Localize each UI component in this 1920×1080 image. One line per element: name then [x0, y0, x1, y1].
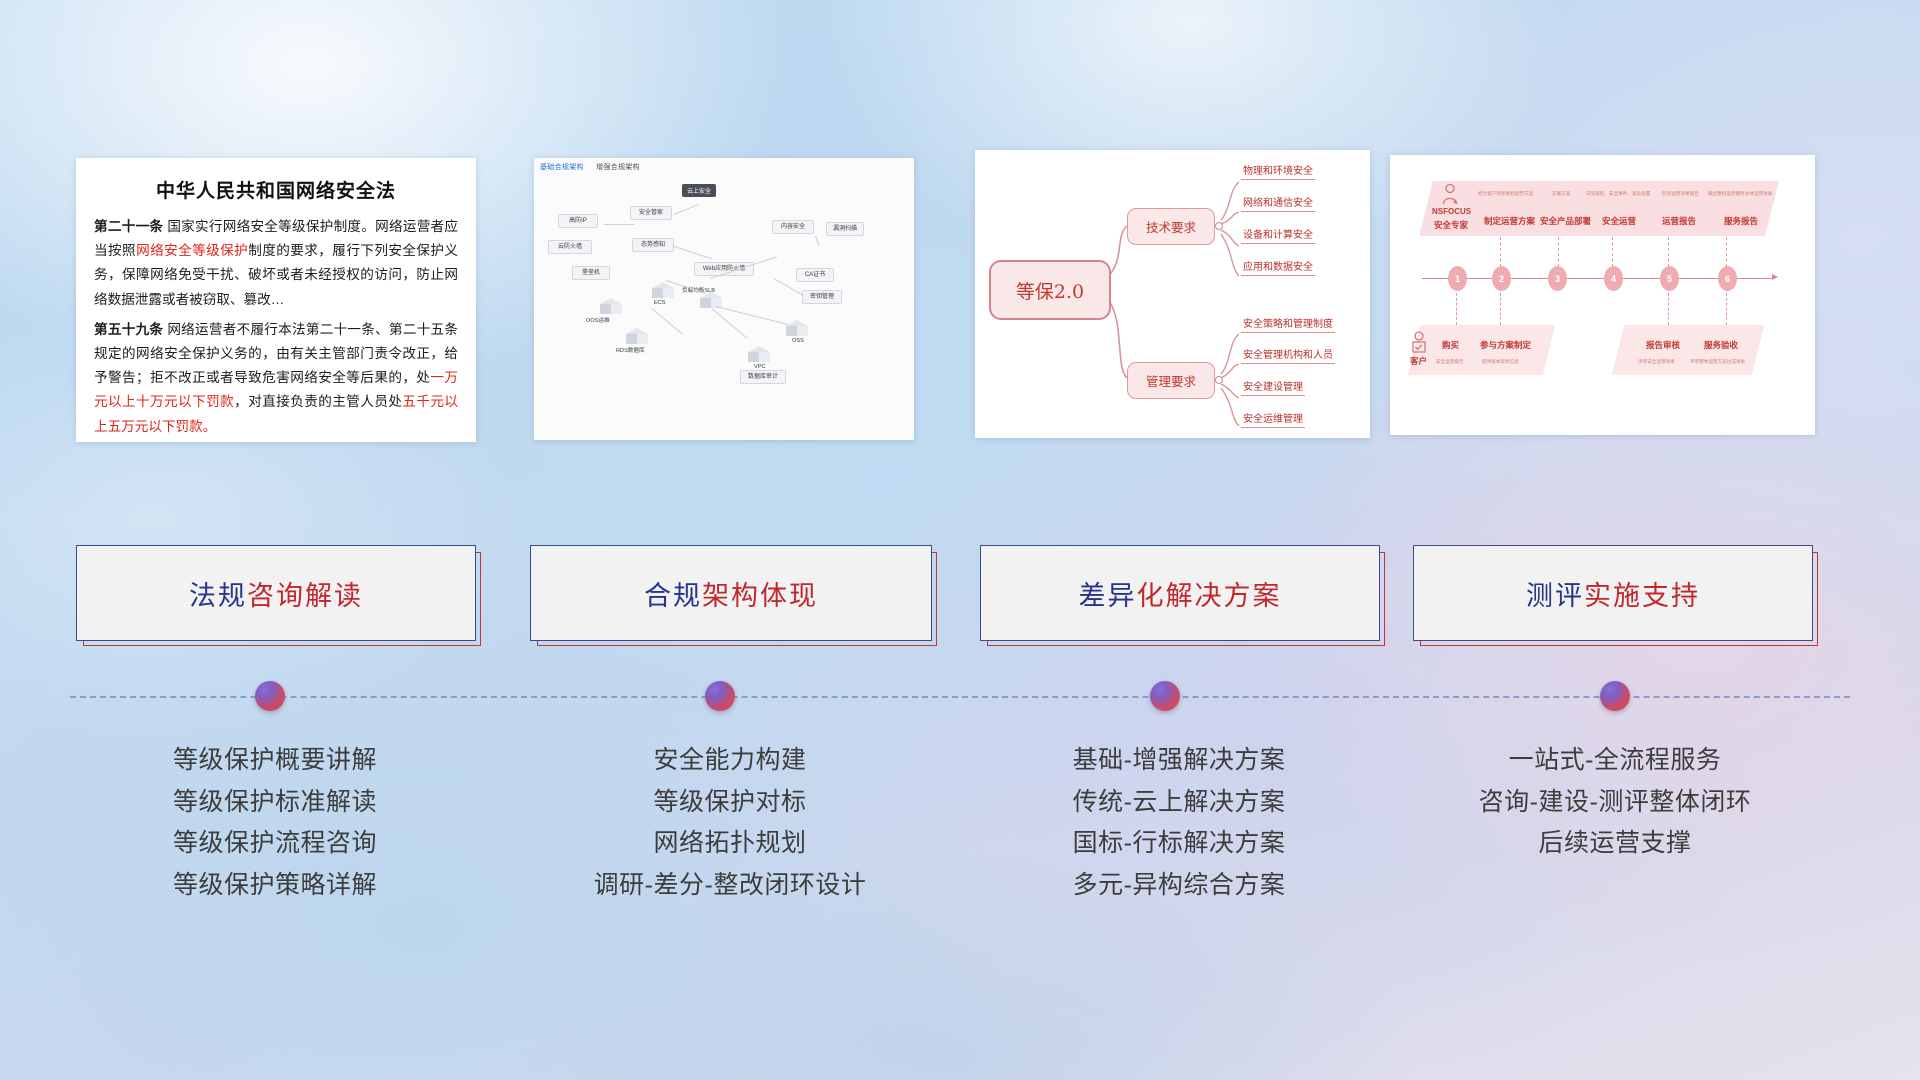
arch-node-9: 密钥管理: [802, 290, 842, 304]
banner-3-text: 差异化解决方案: [1079, 574, 1282, 613]
bottom-sub-2: 评审安全运营效果: [1638, 359, 1675, 365]
banner-1-red: 咨询解读: [247, 581, 363, 611]
expert-avatar-icon: [1440, 183, 1460, 205]
mindmap-leaf-mgmt-1: 安全管理机构和人员: [1241, 346, 1335, 364]
cube-icon-vpc: [748, 346, 770, 362]
timeline-step-5[interactable]: 5: [1660, 266, 1679, 291]
arch-node-5: 内容安全: [772, 220, 814, 234]
banner-compliance-architecture[interactable]: 合规架构体现: [530, 545, 932, 641]
arch-tabs: 基础合规架构 增强合规架构: [540, 162, 650, 172]
list-item: 等级保护策略详解: [75, 865, 475, 907]
banner-regulation-consulting[interactable]: 法规咨询解读: [76, 545, 476, 641]
timeline-step-6[interactable]: 6: [1718, 266, 1737, 291]
law-article-59: 第五十九条 网络运营者不履行本法第二十一条、第二十五条规定的网络安全保护义务的，…: [94, 318, 458, 439]
timeline-step-1[interactable]: 1: [1448, 266, 1467, 291]
list-item: 咨询-建设-测评整体闭环: [1415, 782, 1815, 824]
top-label-3: 运营报告: [1662, 215, 1696, 227]
mindmap-leaf-tech-2: 设备和计算安全: [1241, 226, 1315, 244]
list-item: 调研-差分-整改闭环设计: [528, 865, 932, 907]
bottom-label-1: 参与方案制定: [1480, 339, 1531, 351]
list-item: 网络拓扑规划: [528, 823, 932, 865]
list-item: 等级保护概要讲解: [75, 740, 475, 782]
card-mindmap-dengbao: 等保2.0 技术要求 物理和环境安全 网络和通信安全 设备和计算安全 应用和数据…: [975, 150, 1370, 438]
cube-icon-rds: [626, 328, 648, 344]
banner-3-blue: 差异: [1079, 581, 1137, 611]
process-node-4[interactable]: [1600, 681, 1630, 711]
expert-role: 安全专家: [1434, 219, 1468, 231]
top-label-2: 安全运营: [1602, 215, 1636, 227]
timeline-step-3[interactable]: 3: [1548, 266, 1567, 291]
bottom-label-2: 报告审核: [1646, 339, 1680, 351]
cube-icon-oos: [600, 298, 622, 314]
card-cybersecurity-law: 中华人民共和国网络安全法 第二十一条 国家实行网络安全等级保护制度。网络运营者应…: [76, 158, 476, 442]
timeline-top-band: [1419, 181, 1779, 236]
top-sub-3: 阶段运营效果报告: [1662, 191, 1699, 197]
arch-node-15: RDS数据库: [616, 346, 645, 354]
list-item: 后续运营支撑: [1415, 823, 1815, 865]
arch-node-3: 态势感知: [632, 238, 674, 252]
arch-node-cloud-security: 云上安全: [682, 184, 716, 197]
article-21-label: 第二十一条: [94, 219, 163, 234]
mindmap-branch-mgmt: 管理要求: [1127, 362, 1215, 399]
list-item: 国标-行标解决方案: [975, 823, 1383, 865]
banner-1-text: 法规咨询解读: [189, 574, 363, 613]
top-sub-2: 日常巡检、安全事件、高危处置: [1586, 191, 1650, 197]
arch-tab-enhanced: 增强合规架构: [596, 164, 640, 171]
bottom-sub-3: 评审整体运营方案达成效果: [1690, 359, 1745, 365]
arch-node-8: 漏洞扫描: [826, 222, 864, 236]
mindmap-leaf-mgmt-3: 安全运维管理: [1241, 410, 1305, 428]
mindmap-leaf-mgmt-2: 安全建设管理: [1241, 378, 1305, 396]
banner-3-red: 化解决方案: [1137, 581, 1282, 611]
bottom-label-3: 服务验收: [1704, 339, 1738, 351]
arch-node-11: ECS: [654, 300, 666, 306]
banner-4-red: 实施支持: [1584, 581, 1700, 611]
top-label-0: 制定运营方案: [1484, 215, 1535, 227]
mindmap-leaf-tech-1: 网络和通信安全: [1241, 194, 1315, 212]
arch-node-10: 数据库审计: [740, 370, 786, 384]
list-item: 传统-云上解决方案: [975, 782, 1383, 824]
mindmap-leaf-tech-3: 应用和数据安全: [1241, 258, 1315, 276]
cube-icon-oss: [786, 320, 808, 336]
banner-4-blue: 测评: [1526, 581, 1584, 611]
service-list-3: 基础-增强解决方案 传统-云上解决方案 国标-行标解决方案 多元-异构综合方案: [975, 740, 1383, 906]
list-item: 等级保护流程咨询: [75, 823, 475, 865]
process-node-2[interactable]: [705, 681, 735, 711]
banner-assessment-support[interactable]: 测评实施支持: [1413, 545, 1813, 641]
service-list-1: 等级保护概要讲解 等级保护标准解读 等级保护流程咨询 等级保护策略详解: [75, 740, 475, 906]
card-nsfocus-timeline: NSFOCUS 安全专家 结合客户现状规划运营方案 制定运营方案 实施方案 安全…: [1390, 155, 1815, 435]
cube-icon-ecs: [652, 282, 674, 298]
arch-node-13: OSS: [792, 338, 804, 344]
article-59-label: 第五十九条: [94, 322, 163, 337]
list-item: 一站式-全流程服务: [1415, 740, 1815, 782]
service-list-2: 安全能力构建 等级保护对标 网络拓扑规划 调研-差分-整改闭环设计: [528, 740, 932, 906]
arch-node-16: OOS运维: [586, 316, 610, 324]
arch-node-2: 云防火墙: [548, 240, 592, 254]
bottom-sub-1: 提供基本现状信息: [1482, 359, 1519, 365]
mindmap-root: 等保2.0: [989, 260, 1111, 320]
mindmap-leaf-tech-0: 物理和环境安全: [1241, 162, 1315, 180]
top-label-1: 安全产品部署: [1540, 215, 1591, 227]
banner-2-red: 架构体现: [702, 581, 818, 611]
mindmap-branch-tech: 技术要求: [1127, 208, 1215, 245]
law-article-21: 第二十一条 国家实行网络安全等级保护制度。网络运营者应当按照网络安全等级保护制度…: [94, 215, 458, 312]
mindmap-collapse-icon-mgmt[interactable]: [1215, 376, 1223, 384]
banner-1-blue: 法规: [189, 581, 247, 611]
list-item: 等级保护对标: [528, 782, 932, 824]
customer-avatar-icon: [1410, 331, 1428, 355]
card-cloud-architecture: 基础合规架构 增强合规架构 云上安全 高防IP 安全管家 云防火墙 态势感知 堡…: [534, 158, 914, 440]
banner-2-blue: 合规: [644, 581, 702, 611]
bottom-label-0: 购买: [1442, 339, 1459, 351]
law-title: 中华人民共和国网络安全法: [94, 176, 458, 203]
customer-role: 客户: [1410, 355, 1427, 367]
banner-4-text: 测评实施支持: [1526, 574, 1700, 613]
arch-node-0: 高防IP: [558, 214, 598, 228]
arch-node-14: VPC: [754, 364, 766, 370]
arch-node-4: 堡垒机: [572, 266, 610, 280]
top-sub-0: 结合客户现状规划运营方案: [1478, 191, 1533, 197]
arch-node-1: 安全管家: [630, 206, 672, 220]
article-21-highlight: 网络安全等级保护: [136, 243, 248, 258]
banner-differentiated-solution[interactable]: 差异化解决方案: [980, 545, 1380, 641]
timeline-step-4[interactable]: 4: [1604, 266, 1623, 291]
timeline-arrow-icon: [1772, 274, 1778, 280]
process-node-1[interactable]: [255, 681, 285, 711]
article-59-text-2: ，对直接负责的主管人员处: [234, 394, 402, 409]
list-item: 多元-异构综合方案: [975, 865, 1383, 907]
timeline-bottom-band-right: [1612, 325, 1764, 375]
process-dashed-line: [70, 696, 1850, 698]
bottom-sub-0: 安全运营报告: [1436, 359, 1464, 365]
arch-tab-basic: 基础合规架构: [540, 164, 584, 171]
cube-icon-slb: [700, 292, 722, 308]
mindmap-leaf-mgmt-0: 安全策略和管理制度: [1241, 315, 1335, 333]
mindmap-collapse-icon-tech[interactable]: [1215, 222, 1223, 230]
top-label-4: 服务报告: [1724, 215, 1758, 227]
list-item: 安全能力构建: [528, 740, 932, 782]
top-sub-1: 实施方案: [1552, 191, 1570, 197]
arch-node-7: CA证书: [796, 268, 834, 282]
service-list-4: 一站式-全流程服务 咨询-建设-测评整体闭环 后续运营支撑: [1415, 740, 1815, 865]
top-sub-4: 输出整份运营服务总体运营效果: [1708, 191, 1772, 197]
timeline-step-2[interactable]: 2: [1492, 266, 1511, 291]
list-item: 等级保护标准解读: [75, 782, 475, 824]
process-node-3[interactable]: [1150, 681, 1180, 711]
list-item: 基础-增强解决方案: [975, 740, 1383, 782]
banner-2-text: 合规架构体现: [644, 574, 818, 613]
expert-brand: NSFOCUS: [1432, 207, 1471, 216]
